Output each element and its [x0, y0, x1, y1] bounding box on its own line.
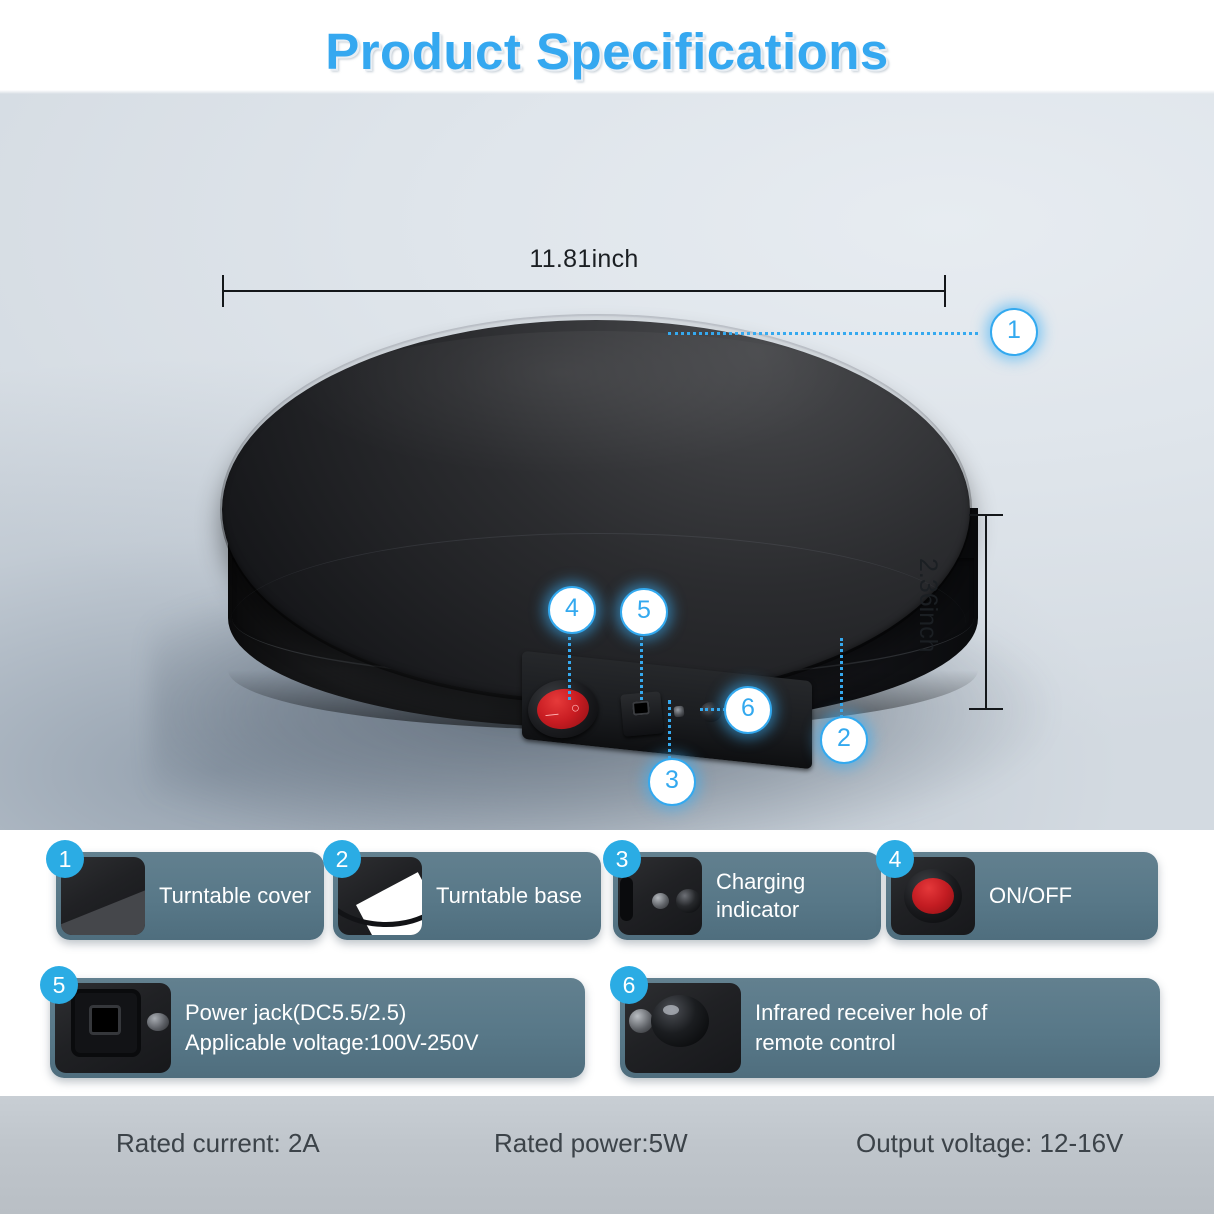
- product-photo-stage: — ○ 11.81inch 2.36inch 1 2: [0, 90, 1214, 830]
- leader-line-5: [640, 632, 643, 700]
- power-on-icon: —: [545, 707, 559, 721]
- legend-card-2[interactable]: 2 Turntable base: [333, 852, 601, 940]
- legend-card-5[interactable]: 5 Power jack(DC5.5/2.5) Applicable volta…: [50, 978, 585, 1078]
- legend-badge-4: 4: [876, 840, 914, 878]
- legend-section: 1 Turntable cover 2 Turntable base 3 Cha…: [0, 830, 1214, 1100]
- legend-badge-6: 6: [610, 966, 648, 1004]
- legend-card-1[interactable]: 1 Turntable cover: [56, 852, 324, 940]
- width-cap-right: [944, 275, 946, 307]
- legend-label-6-line2: remote control: [755, 1030, 896, 1055]
- specs-band: Rated current: 2A Rated power:5W Output …: [0, 1096, 1214, 1214]
- leader-line-6: [700, 708, 726, 711]
- legend-card-4[interactable]: 4 ON/OFF: [886, 852, 1158, 940]
- legend-badge-5: 5: [40, 966, 78, 1004]
- turntable-product: — ○: [222, 228, 992, 803]
- legend-label-5-line2: Applicable voltage:100V-250V: [185, 1030, 479, 1055]
- callout-6[interactable]: 6: [724, 686, 772, 734]
- height-cap-top: [969, 514, 1003, 516]
- page-title: Product Specifications: [0, 22, 1214, 81]
- legend-label-1: Turntable cover: [159, 882, 311, 910]
- legend-badge-1: 1: [46, 840, 84, 878]
- power-off-icon: ○: [570, 700, 581, 716]
- callout-4[interactable]: 4: [548, 586, 596, 634]
- legend-card-3[interactable]: 3 Charging indicator: [613, 852, 881, 940]
- width-dimension-line: [222, 290, 946, 292]
- width-dimension-label: 11.81inch: [222, 245, 946, 274]
- spec-rated-power: Rated power:5W: [494, 1128, 688, 1159]
- callout-1[interactable]: 1: [990, 308, 1038, 356]
- leader-line-1: [668, 332, 978, 335]
- leader-line-2: [840, 638, 843, 718]
- legend-label-6: Infrared receiver hole of remote control: [755, 998, 987, 1058]
- rocker-red-cap: — ○: [535, 686, 591, 731]
- legend-label-2: Turntable base: [436, 882, 582, 910]
- legend-label-3: Charging indicator: [716, 868, 871, 924]
- legend-label-5-line1: Power jack(DC5.5/2.5): [185, 1000, 406, 1025]
- width-cap-left: [222, 275, 224, 307]
- legend-label-4: ON/OFF: [989, 882, 1072, 910]
- product-specifications-page: Product Specifications — ○: [0, 0, 1214, 1214]
- charging-indicator: [674, 706, 685, 718]
- height-cap-bottom: [969, 708, 1003, 710]
- height-dimension-label: 2.36inch: [913, 558, 942, 653]
- spec-rated-current: Rated current: 2A: [116, 1128, 320, 1159]
- callout-5[interactable]: 5: [620, 588, 668, 636]
- height-dimension-line: [985, 514, 987, 710]
- legend-label-6-line1: Infrared receiver hole of: [755, 1000, 987, 1025]
- legend-badge-2: 2: [323, 840, 361, 878]
- leader-line-3: [668, 700, 671, 760]
- title-band: Product Specifications: [0, 0, 1214, 90]
- callout-3[interactable]: 3: [648, 758, 696, 806]
- legend-badge-3: 3: [603, 840, 641, 878]
- spec-output-voltage: Output voltage: 12-16V: [856, 1128, 1123, 1159]
- legend-label-5: Power jack(DC5.5/2.5) Applicable voltage…: [185, 998, 479, 1058]
- callout-2[interactable]: 2: [820, 716, 868, 764]
- legend-card-6[interactable]: 6 Infrared receiver hole of remote contr…: [620, 978, 1160, 1078]
- leader-line-4: [568, 630, 571, 700]
